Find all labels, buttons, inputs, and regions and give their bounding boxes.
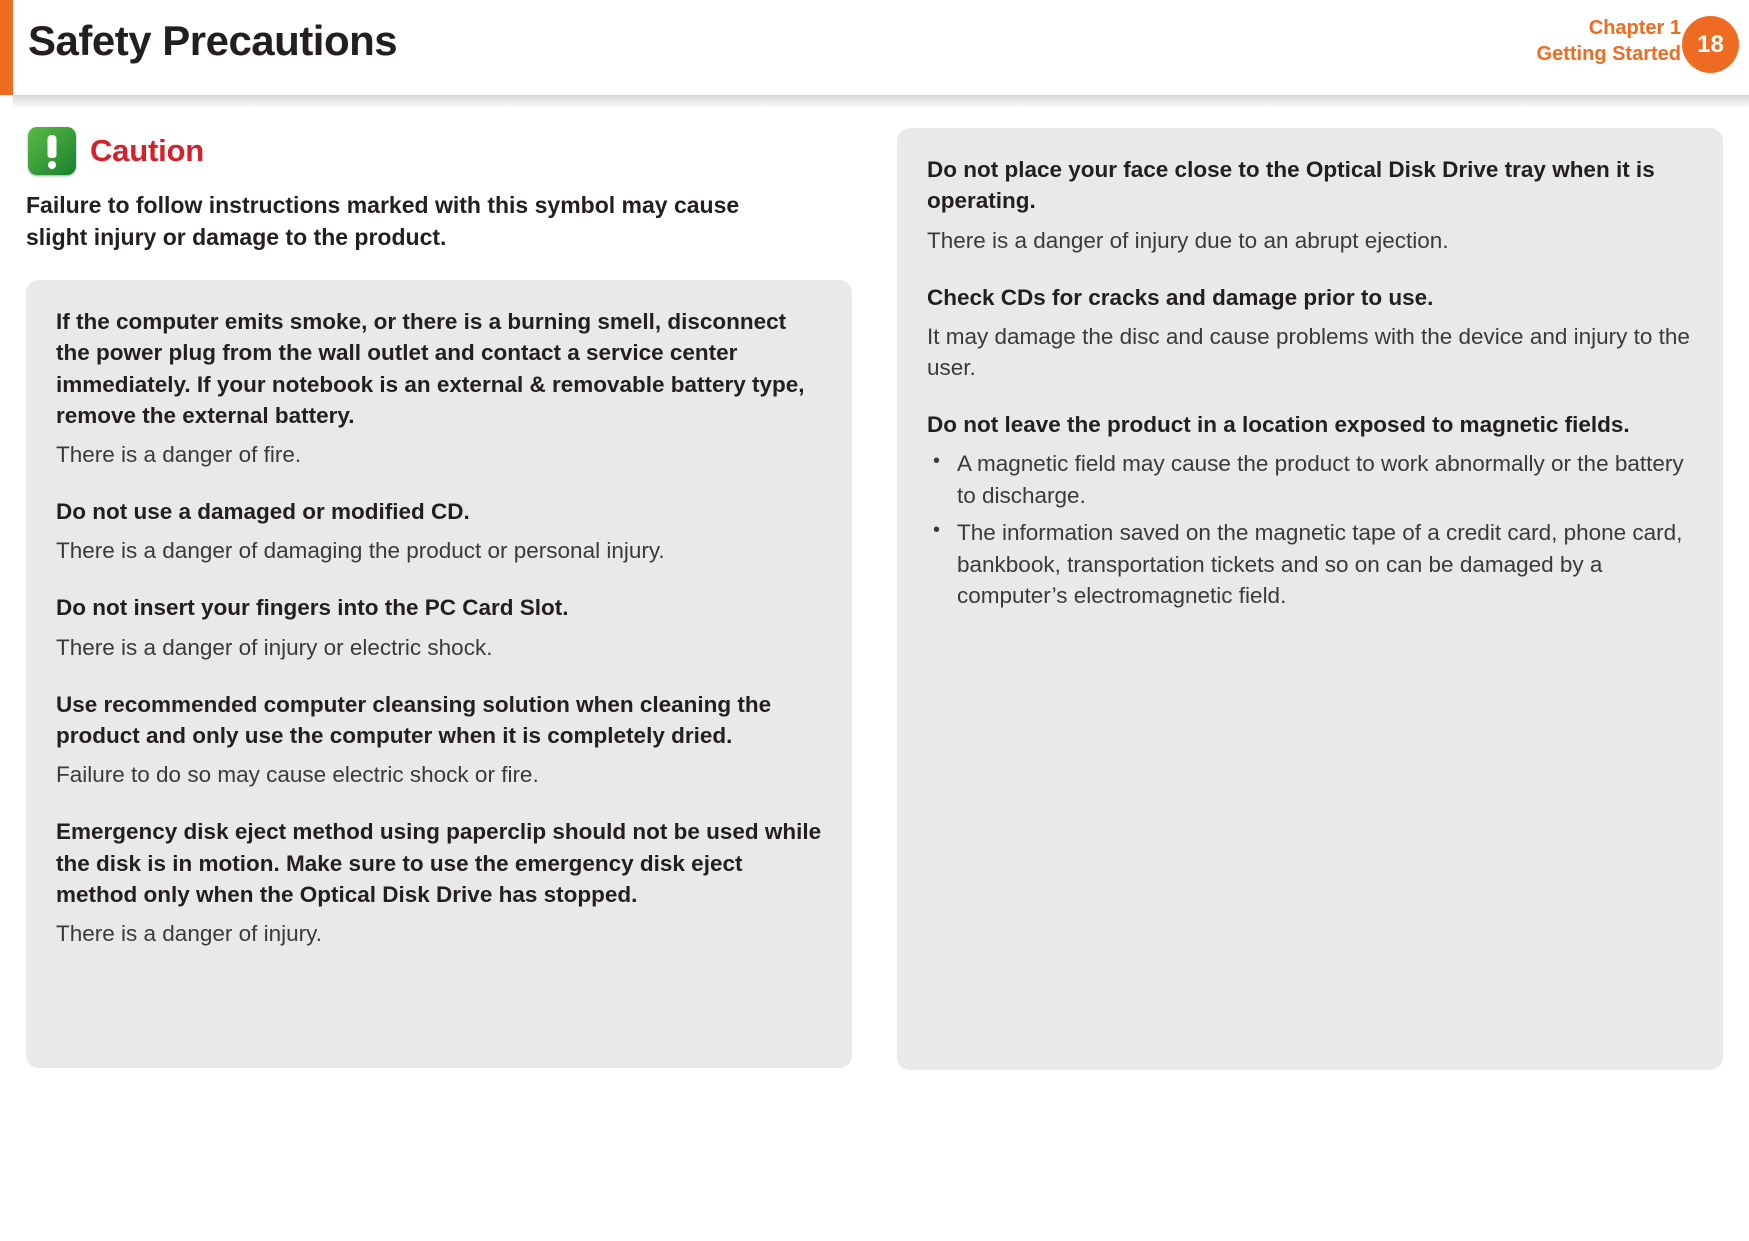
right-column: Do not place your face close to the Opti…	[897, 109, 1723, 1070]
right-warning-panel: Do not place your face close to the Opti…	[897, 128, 1723, 1070]
warning-body: There is a danger of injury or electric …	[56, 632, 822, 663]
exclamation-stem	[48, 135, 57, 158]
caution-heading: Caution	[28, 128, 852, 174]
warning-body: There is a danger of injury.	[56, 918, 822, 949]
warning-entry: Check CDs for cracks and damage prior to…	[927, 282, 1693, 383]
section-label: Getting Started	[1537, 42, 1681, 68]
caution-description: Failure to follow instructions marked wi…	[26, 190, 786, 253]
warning-bullet-list: A magnetic field may cause the product t…	[927, 448, 1693, 612]
header-divider-shadow	[13, 95, 1749, 109]
warning-entry: If the computer emits smoke, or there is…	[56, 306, 822, 470]
warning-title: Do not leave the product in a location e…	[927, 409, 1693, 440]
warning-title: Do not insert your fingers into the PC C…	[56, 592, 822, 623]
page-title: Safety Precautions	[28, 17, 397, 65]
warning-title: If the computer emits smoke, or there is…	[56, 306, 822, 431]
exclamation-dot	[48, 161, 56, 169]
warning-title: Do not use a damaged or modified CD.	[56, 496, 822, 527]
warning-entry: Do not insert your fingers into the PC C…	[56, 592, 822, 662]
warning-entry: Emergency disk eject method using paperc…	[56, 816, 822, 949]
warning-entry: Do not use a damaged or modified CD. The…	[56, 496, 822, 566]
chapter-label: Chapter 1	[1537, 16, 1681, 42]
page-header: Safety Precautions Chapter 1 Getting Sta…	[0, 0, 1749, 95]
warning-title: Use recommended computer cleansing solut…	[56, 689, 822, 752]
page-content: Caution Failure to follow instructions m…	[0, 109, 1749, 1241]
caution-exclamation-icon	[28, 127, 76, 175]
warning-body: There is a danger of fire.	[56, 439, 822, 470]
warning-body: There is a danger of damaging the produc…	[56, 535, 822, 566]
warning-body: It may damage the disc and cause problem…	[927, 321, 1693, 383]
warning-entry: Use recommended computer cleansing solut…	[56, 689, 822, 791]
warning-title: Do not place your face close to the Opti…	[927, 154, 1693, 217]
warning-body: There is a danger of injury due to an ab…	[927, 225, 1693, 256]
warning-title: Check CDs for cracks and damage prior to…	[927, 282, 1693, 313]
warning-body: Failure to do so may cause electric shoc…	[56, 759, 822, 790]
warning-title: Emergency disk eject method using paperc…	[56, 816, 822, 910]
warning-entry: Do not leave the product in a location e…	[927, 409, 1693, 612]
list-item: The information saved on the magnetic ta…	[927, 517, 1693, 612]
warning-entry: Do not place your face close to the Opti…	[927, 154, 1693, 256]
list-item: A magnetic field may cause the product t…	[927, 448, 1693, 511]
chapter-info: Chapter 1 Getting Started	[1537, 16, 1681, 67]
page-number-badge: 18	[1682, 16, 1739, 73]
caution-label: Caution	[90, 133, 204, 169]
left-column: Caution Failure to follow instructions m…	[26, 109, 852, 1068]
header-accent-bar	[0, 0, 13, 95]
left-warning-panel: If the computer emits smoke, or there is…	[26, 280, 852, 1068]
